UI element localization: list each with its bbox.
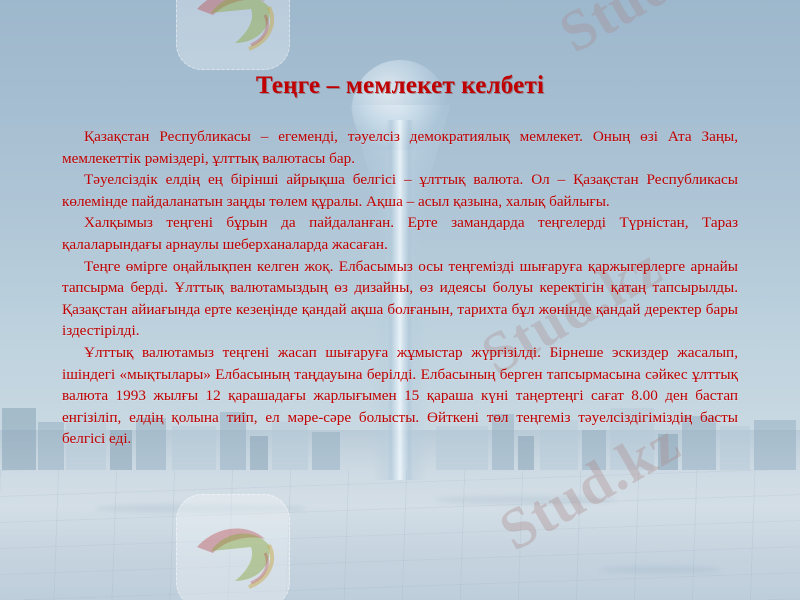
body-paragraph: Ұлттық валютамыз теңгені жасап шығаруға … [62,342,738,450]
slide-content: Теңге – мемлекет келбеті Қазақстан Респу… [0,0,800,600]
body-paragraph: Тәуелсіздік елдің ең бірінші айрықша бел… [62,169,738,212]
body-paragraph: Қазақстан Республикасы – егеменді, тәуел… [62,126,738,169]
slide-title: Теңге – мемлекет келбеті [0,72,800,100]
presentation-slide: Stud.kz Stud.kz Stud.kz Теңге – мемлекет… [0,0,800,600]
body-paragraph: Халқымыз теңгені бұрын да пайдаланған. Е… [62,212,738,255]
slide-body-text: Қазақстан Республикасы – егеменді, тәуел… [62,126,738,450]
body-paragraph: Теңге өмірге оңайлықпен келген жоқ. Елба… [62,256,738,342]
